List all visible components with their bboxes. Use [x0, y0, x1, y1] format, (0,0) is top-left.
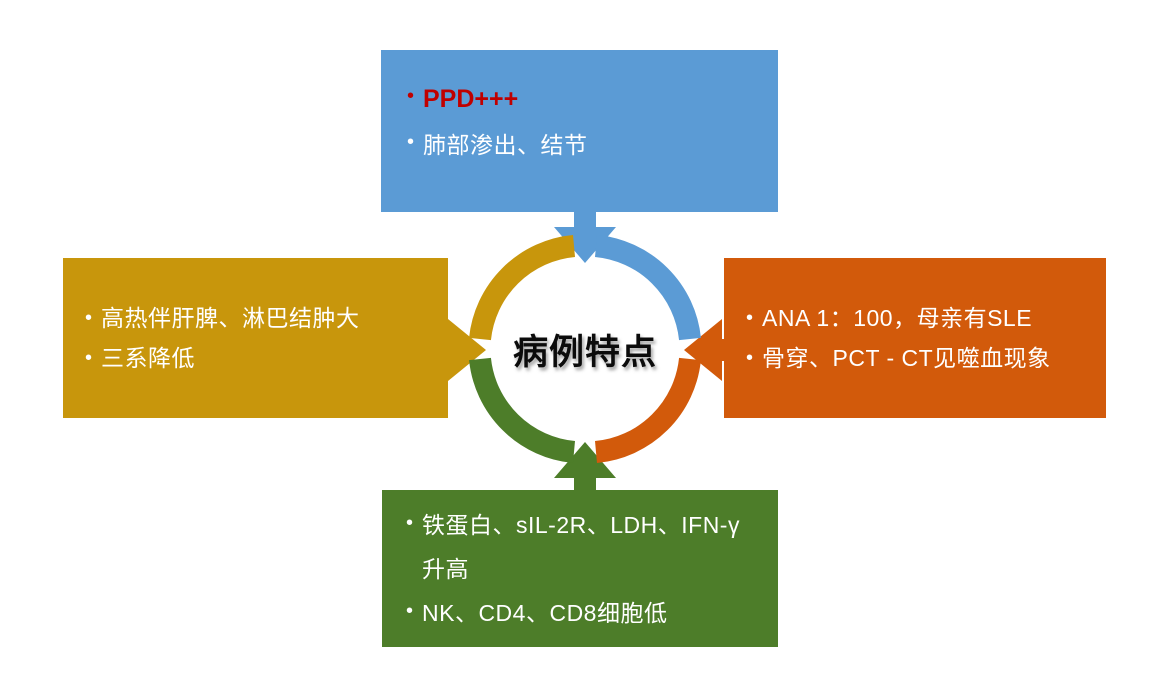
ring-segment-top-left — [480, 246, 574, 339]
bullet-dot-icon: • — [746, 298, 762, 338]
bullet-dot-icon: • — [406, 591, 422, 631]
node-bottom-bullet-list: • 铁蛋白、sIL-2R、LDH、IFN-γ 升高 • NK、CD4、CD8细胞… — [406, 503, 756, 635]
bullet-dot-icon: • — [85, 338, 101, 378]
node-box-bottom[interactable]: • 铁蛋白、sIL-2R、LDH、IFN-γ 升高 • NK、CD4、CD8细胞… — [382, 490, 778, 647]
bullet-text: 肺部渗出、结节 — [423, 122, 748, 168]
node-top-bullet-list: • PPD+++ • 肺部渗出、结节 — [407, 76, 748, 168]
ring-segment-bottom-left — [480, 359, 574, 452]
bullet-text: ANA 1：100，母亲有SLE — [762, 298, 1088, 338]
bullet-dot-icon: • — [407, 122, 423, 162]
bullet-dot-icon: • — [407, 76, 423, 116]
ring-segment-top-right — [596, 246, 690, 339]
bullet-item: • 铁蛋白、sIL-2R、LDH、IFN-γ 升高 — [406, 503, 756, 591]
bullet-dot-icon: • — [746, 338, 762, 378]
ring-segment-bottom-right — [596, 359, 690, 452]
bullet-item: • 高热伴肝脾、淋巴结肿大 — [85, 298, 428, 338]
center-ring — [462, 232, 708, 466]
node-right-bullet-list: • ANA 1：100，母亲有SLE • 骨穿、PCT - CT见噬血现象 — [746, 298, 1088, 378]
bullet-item: • 三系降低 — [85, 338, 428, 378]
node-box-top[interactable]: • PPD+++ • 肺部渗出、结节 — [381, 50, 778, 212]
node-box-right[interactable]: • ANA 1：100，母亲有SLE • 骨穿、PCT - CT见噬血现象 — [724, 258, 1106, 418]
bullet-text: PPD+++ — [423, 76, 748, 122]
bullet-dot-icon: • — [406, 503, 422, 543]
bullet-text: 骨穿、PCT - CT见噬血现象 — [762, 338, 1088, 378]
bullet-text: 三系降低 — [101, 338, 428, 378]
diagram-canvas: • PPD+++ • 肺部渗出、结节 • 高热伴肝脾、淋巴结肿大 • 三系降低 — [0, 0, 1164, 682]
bullet-text: NK、CD4、CD8细胞低 — [422, 591, 756, 635]
bullet-item: • NK、CD4、CD8细胞低 — [406, 591, 756, 635]
bullet-item: • PPD+++ — [407, 76, 748, 122]
bullet-text: 高热伴肝脾、淋巴结肿大 — [101, 298, 428, 338]
bullet-text: 铁蛋白、sIL-2R、LDH、IFN-γ 升高 — [422, 503, 756, 591]
bullet-item: • ANA 1：100，母亲有SLE — [746, 298, 1088, 338]
node-left-bullet-list: • 高热伴肝脾、淋巴结肿大 • 三系降低 — [85, 298, 428, 378]
node-box-left[interactable]: • 高热伴肝脾、淋巴结肿大 • 三系降低 — [63, 258, 448, 418]
bullet-item: • 肺部渗出、结节 — [407, 122, 748, 168]
bullet-dot-icon: • — [85, 298, 101, 338]
bullet-item: • 骨穿、PCT - CT见噬血现象 — [746, 338, 1088, 378]
